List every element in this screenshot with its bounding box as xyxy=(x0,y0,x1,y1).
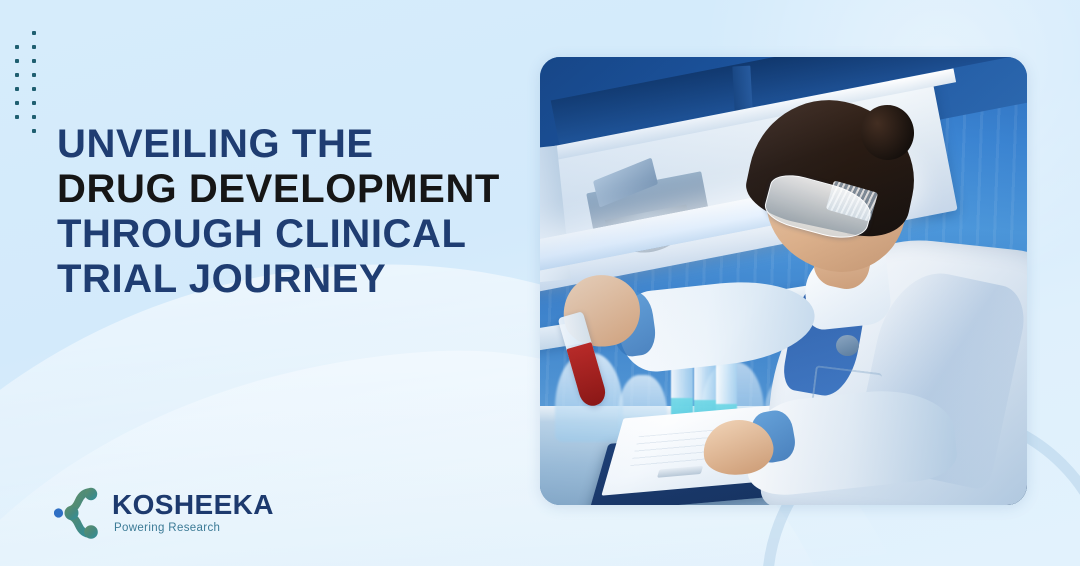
molecule-node-logo-icon xyxy=(54,487,102,539)
laboratory-photo xyxy=(540,57,1027,505)
headline-line-4: TRIAL JOURNEY xyxy=(57,257,527,302)
headline-line-1: UNVEILING THE xyxy=(57,122,527,167)
brand-logo[interactable]: KOSHEEKA Powering Research xyxy=(54,487,274,539)
logo-text-block: KOSHEEKA Powering Research xyxy=(112,491,274,535)
hero-image-card xyxy=(540,57,1027,505)
coat-badge xyxy=(836,335,859,356)
headline-line-2: DRUG DEVELOPMENT xyxy=(57,167,527,212)
logo-tagline: Powering Research xyxy=(112,523,274,535)
banner-canvas: UNVEILING THE DRUG DEVELOPMENT THROUGH C… xyxy=(0,0,1080,566)
dot-grid-decoration xyxy=(8,26,42,138)
headline-line-3: THROUGH CLINICAL xyxy=(57,212,527,257)
logo-name: KOSHEEKA xyxy=(112,491,274,519)
scientist-figure xyxy=(696,79,1027,505)
page-title: UNVEILING THE DRUG DEVELOPMENT THROUGH C… xyxy=(57,122,527,302)
